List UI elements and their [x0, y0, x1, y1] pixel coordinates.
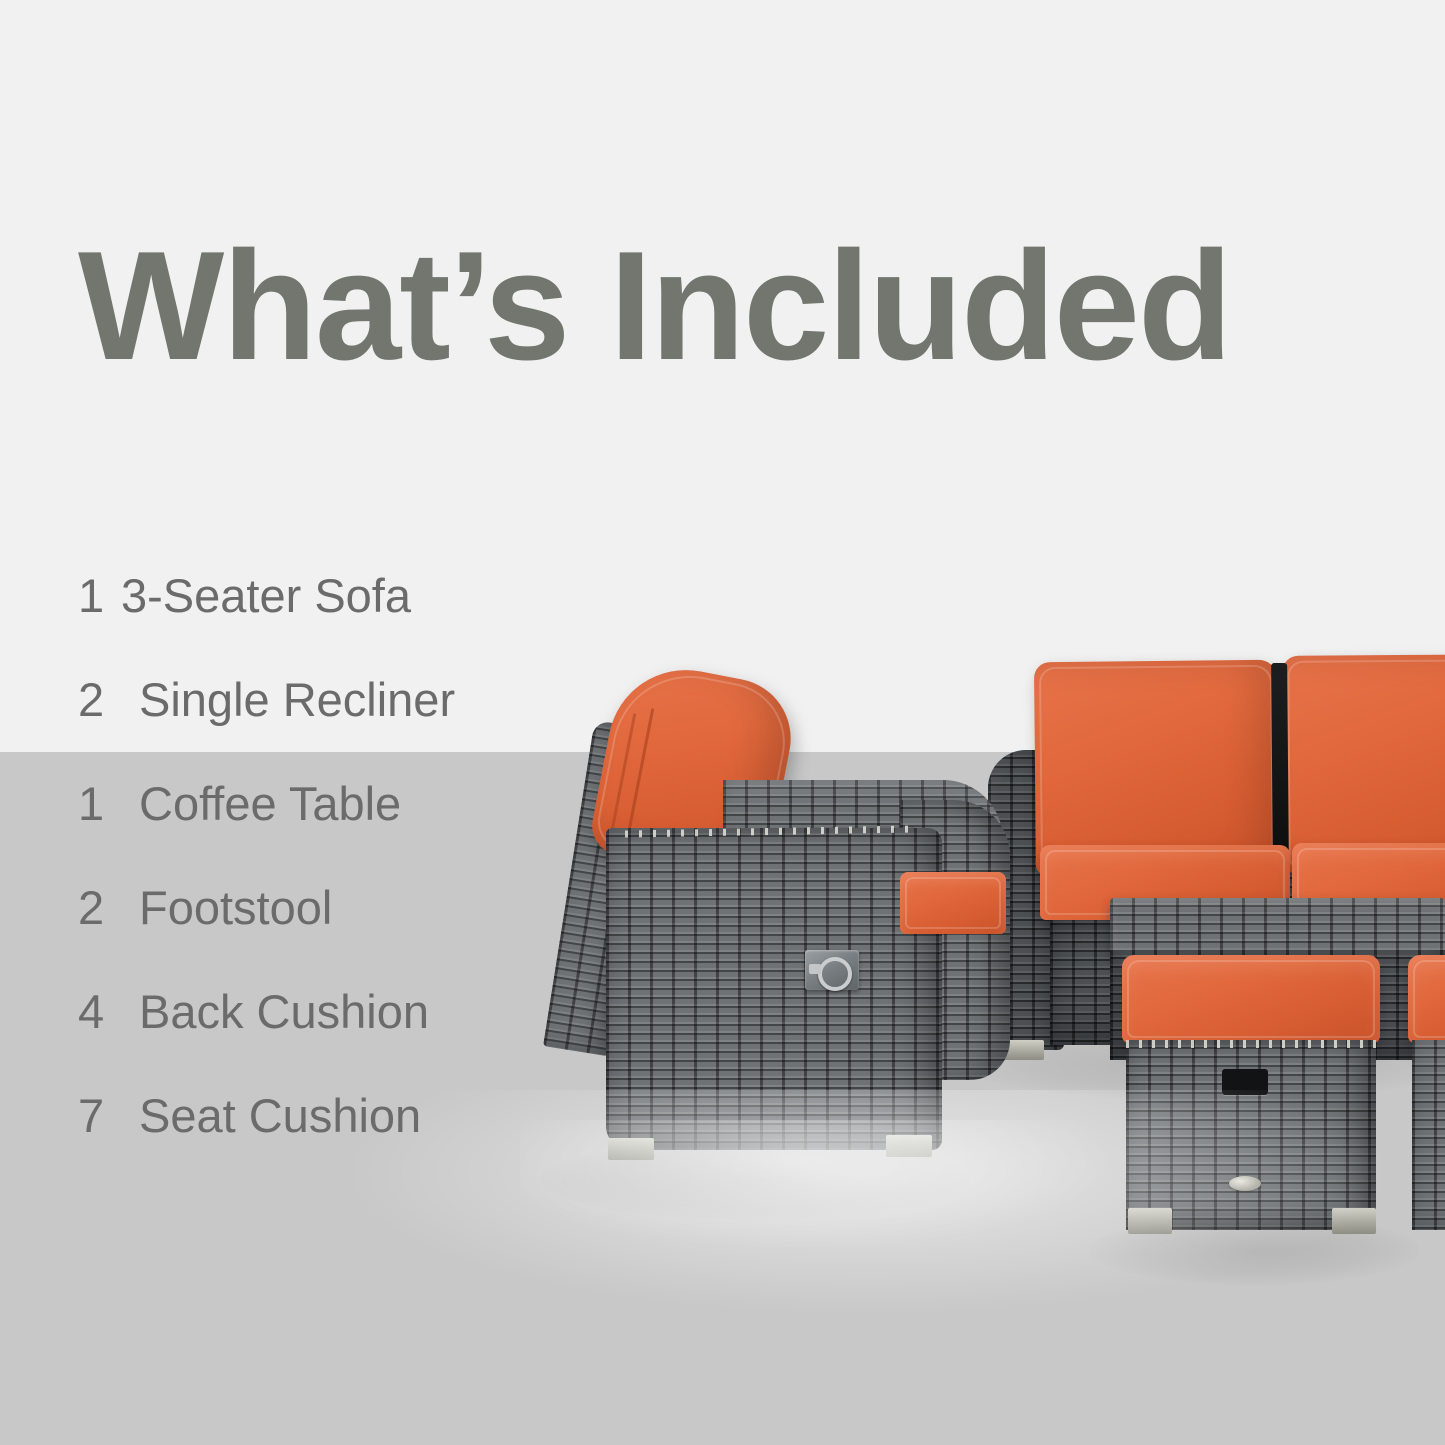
product-infographic: What’s Included 1 3-Seater Sofa 2 Single… [0, 0, 1445, 1445]
list-item-quantity: 7 [78, 1088, 106, 1143]
list-item-label: 3-Seater Sofa [121, 568, 411, 623]
list-item: 7 Seat Cushion [78, 1088, 548, 1192]
list-item-label: Footstool [139, 880, 332, 935]
list-item: 2 Footstool [78, 880, 548, 984]
list-item-quantity: 1 [78, 568, 106, 623]
list-item: 1 Coffee Table [78, 776, 548, 880]
page-title: What’s Included [78, 228, 1231, 383]
list-item-quantity: 4 [78, 984, 106, 1039]
list-item-quantity: 2 [78, 672, 106, 727]
list-item-label: Coffee Table [139, 776, 401, 831]
list-item: 4 Back Cushion [78, 984, 548, 1088]
list-item: 1 3-Seater Sofa [78, 568, 548, 672]
list-item-quantity: 1 [78, 776, 106, 831]
list-item-label: Single Recliner [139, 672, 455, 727]
included-items-list: 1 3-Seater Sofa 2 Single Recliner 1 Coff… [78, 568, 548, 1192]
list-item-quantity: 2 [78, 880, 106, 935]
list-item: 2 Single Recliner [78, 672, 548, 776]
list-item-label: Back Cushion [139, 984, 429, 1039]
list-item-label: Seat Cushion [139, 1088, 421, 1143]
